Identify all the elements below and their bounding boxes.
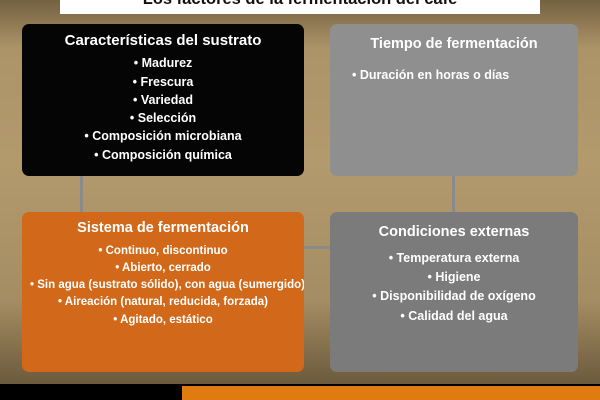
slide-canvas: Los factores de la fermentación del café… bbox=[0, 0, 600, 400]
bottom-orange-bar bbox=[182, 386, 600, 400]
box-tiempo-de-fermentacion[interactable]: Tiempo de fermentación Duración en horas… bbox=[330, 24, 578, 176]
box-tiempo-heading: Tiempo de fermentación bbox=[338, 36, 570, 53]
list-item: Disponibilidad de oxígeno bbox=[338, 287, 570, 306]
list-item: Continuo, discontinuo bbox=[30, 243, 296, 260]
list-item: Duración en horas o días bbox=[338, 67, 570, 85]
list-item: Calidad del agua bbox=[338, 307, 570, 326]
box-condiciones-externas[interactable]: Condiciones externas Temperatura externa… bbox=[330, 212, 578, 372]
list-item: Composición microbiana bbox=[30, 127, 296, 145]
list-item: Temperatura externa bbox=[338, 249, 570, 268]
connector-tiempo-to-condiciones bbox=[452, 176, 455, 212]
list-item: Composición química bbox=[30, 146, 296, 164]
list-item: Sin agua (sustrato sólido), con agua (su… bbox=[30, 277, 296, 294]
connector-sistema-to-condiciones bbox=[304, 246, 330, 249]
connector-sustrato-to-sistema bbox=[80, 176, 83, 212]
page-title: Los factores de la fermentación del café bbox=[60, 0, 540, 9]
box-sustrato-heading: Características del sustrato bbox=[30, 32, 296, 49]
list-item: Aireación (natural, reducida, forzada) bbox=[30, 294, 296, 311]
list-item: Variedad bbox=[30, 91, 296, 109]
box-sustrato-list: Madurez Frescura Variedad Selección Comp… bbox=[30, 54, 296, 164]
box-tiempo-list: Duración en horas o días bbox=[338, 67, 570, 85]
box-sistema-list: Continuo, discontinuo Abierto, cerrado S… bbox=[30, 243, 296, 329]
list-item: Abierto, cerrado bbox=[30, 260, 296, 277]
list-item: Frescura bbox=[30, 73, 296, 91]
list-item: Selección bbox=[30, 109, 296, 127]
box-condiciones-heading: Condiciones externas bbox=[338, 224, 570, 241]
box-sistema-heading: Sistema de fermentación bbox=[30, 220, 296, 237]
box-caracteristicas-del-sustrato[interactable]: Características del sustrato Madurez Fre… bbox=[22, 24, 304, 176]
box-sistema-de-fermentacion[interactable]: Sistema de fermentación Continuo, discon… bbox=[22, 212, 304, 372]
list-item: Agitado, estático bbox=[30, 312, 296, 329]
list-item: Madurez bbox=[30, 54, 296, 72]
list-item: Higiene bbox=[338, 268, 570, 287]
box-condiciones-list: Temperatura externa Higiene Disponibilid… bbox=[338, 249, 570, 327]
